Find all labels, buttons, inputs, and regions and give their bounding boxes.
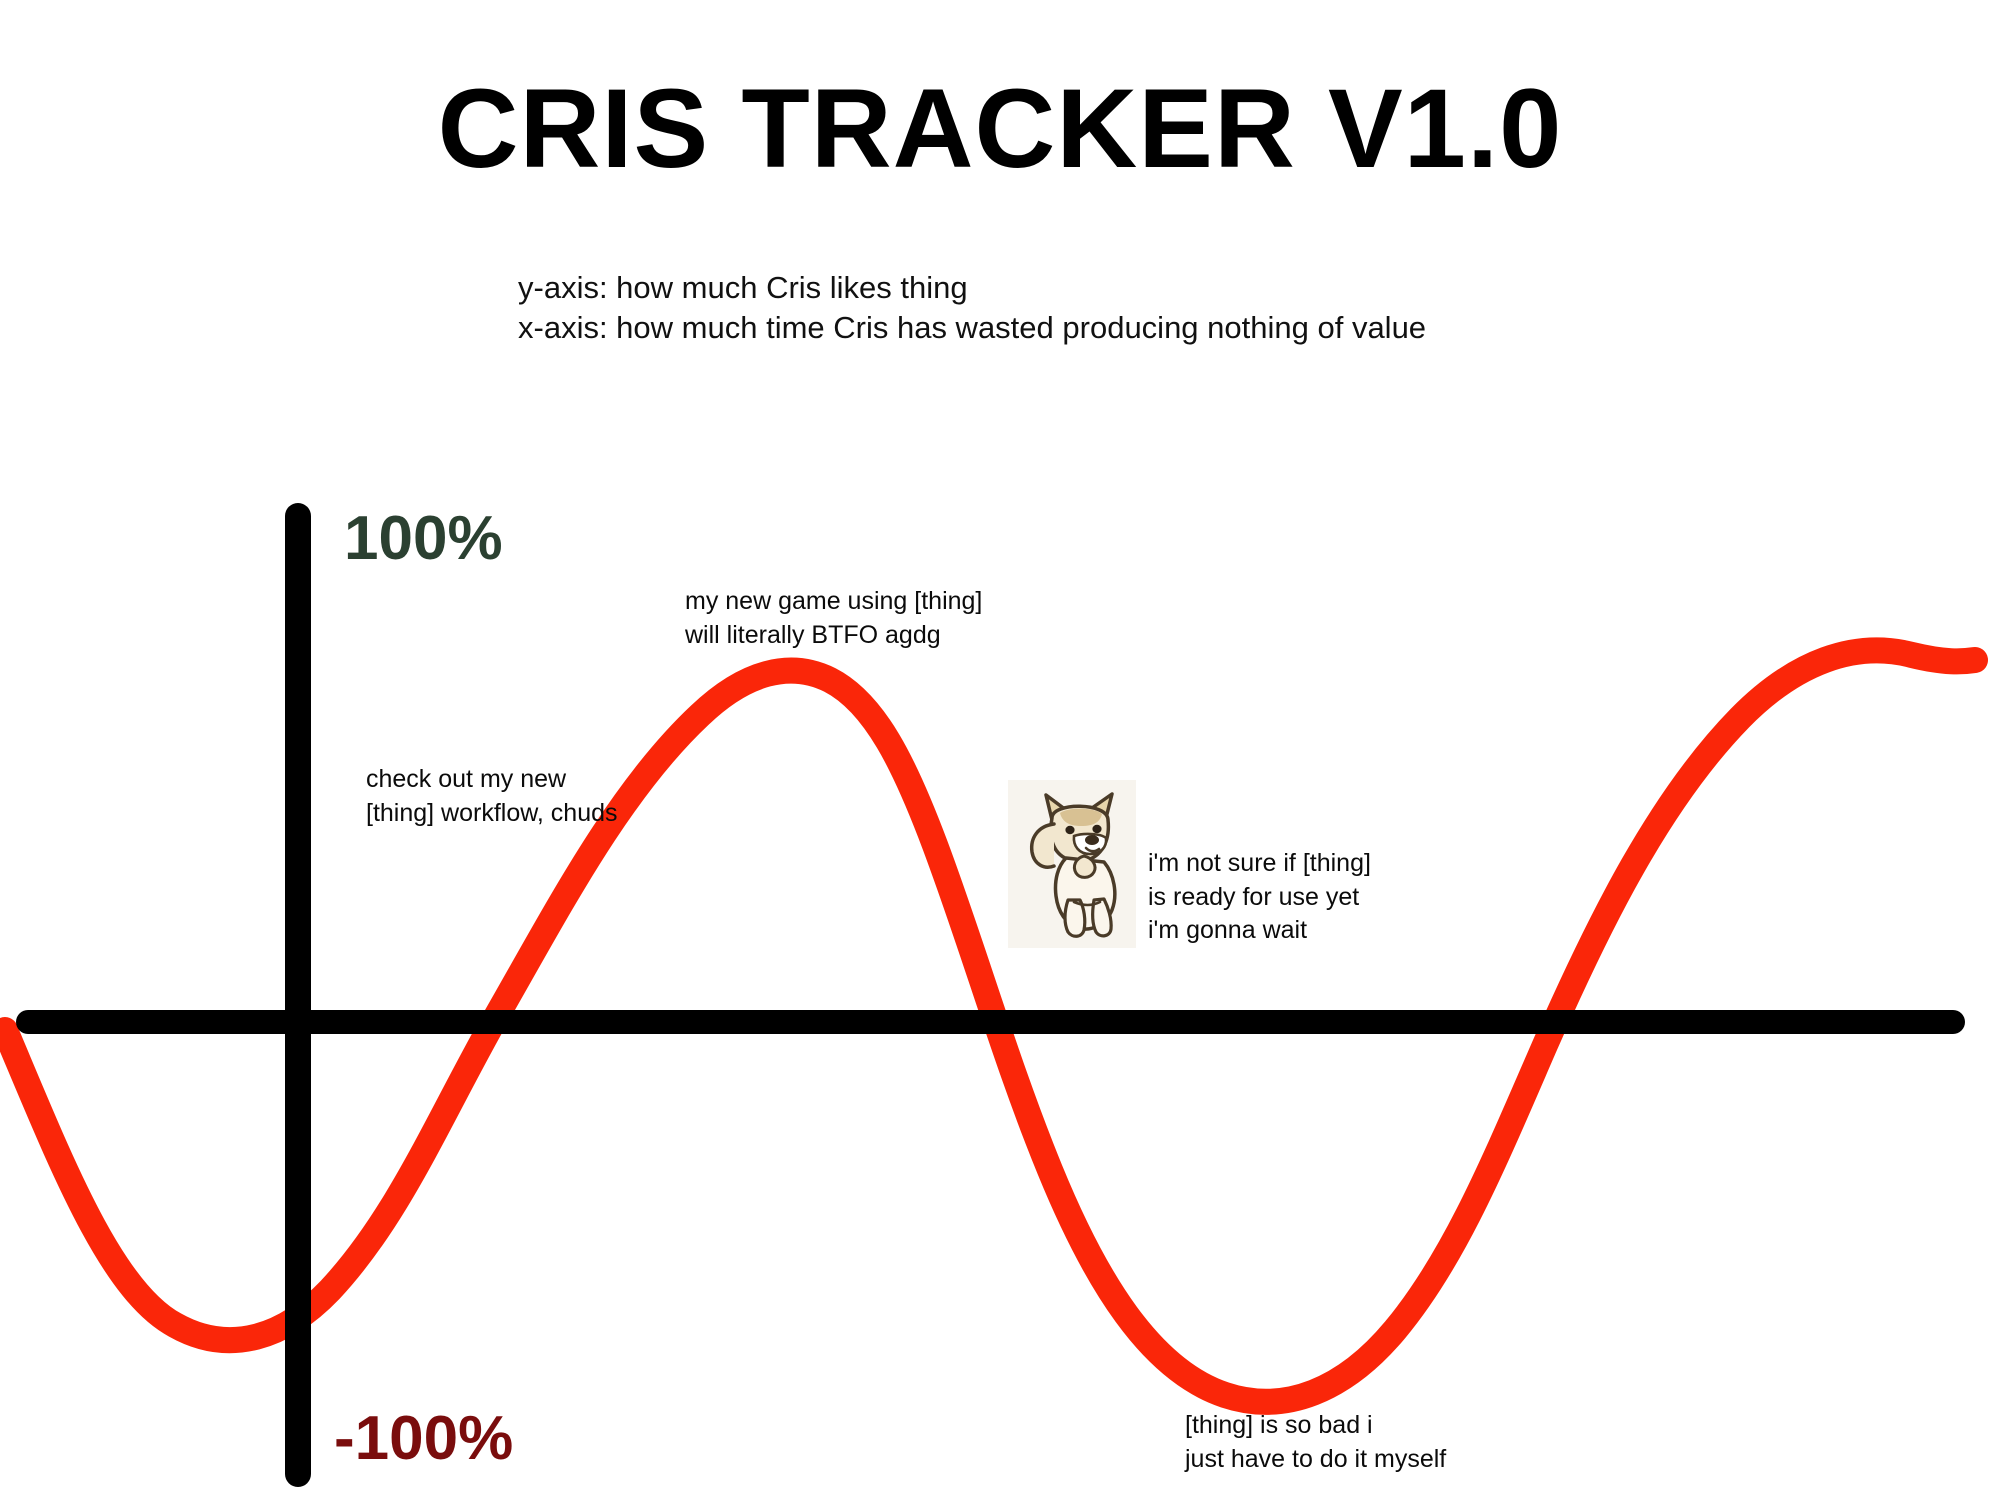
y-axis-min-label: -100% [334, 1408, 513, 1470]
y-axis-max-label: 100% [344, 508, 503, 570]
annotation-not-sure: i'm not sure if [thing] is ready for use… [1148, 847, 1371, 948]
annotation-btfo: my new game using [thing] will literally… [685, 585, 982, 652]
chart-canvas [0, 0, 2000, 1500]
cris-tracker-meme-chart: CRIS TRACKER V1.0 y-axis: how much Cris … [0, 0, 2000, 1500]
annotation-so-bad: [thing] is so bad i just have to do it m… [1185, 1409, 1446, 1476]
annotation-workflow: check out my new [thing] workflow, chuds [366, 763, 618, 830]
thinking-doge-sticker [1008, 780, 1136, 948]
doge-icon [1008, 780, 1136, 948]
